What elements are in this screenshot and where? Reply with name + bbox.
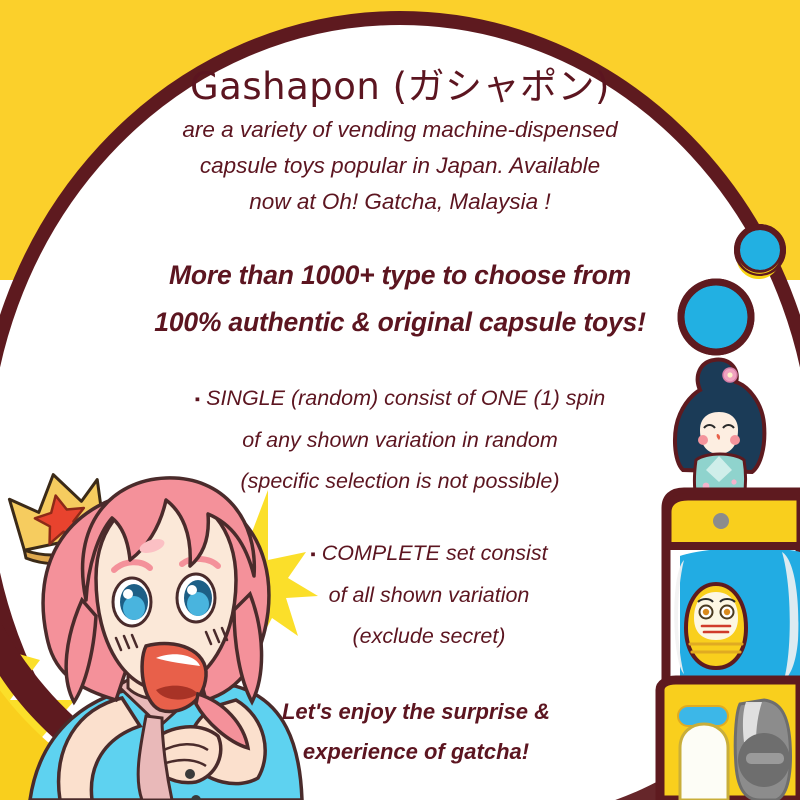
- single-option-line-1: ▪ SINGLE (random) consist of ONE (1) spi…: [0, 378, 800, 420]
- single-option-line-2: of any shown variation in random: [0, 420, 800, 461]
- complete-option-block: ▪ COMPLETE set consist of all shown vari…: [0, 533, 800, 657]
- complete-option-line-1: ▪ COMPLETE set consist: [58, 533, 800, 575]
- complete-option-line-3: (exclude secret): [58, 616, 800, 657]
- single-option-line-3: (specific selection is not possible): [0, 461, 800, 502]
- closing-line-2: experience of gatcha!: [32, 732, 800, 772]
- bullet-marker-complete: ▪: [310, 546, 315, 563]
- machine-top-screw: [713, 513, 729, 529]
- headline-block: More than 1000+ type to choose from 100%…: [0, 252, 800, 346]
- closing-line-1: Let's enjoy the surprise &: [32, 692, 800, 732]
- closing-block: Let's enjoy the surprise & experience of…: [0, 692, 800, 772]
- headline-line-1: More than 1000+ type to choose from: [0, 252, 800, 299]
- lede-line-1: are a variety of vending machine-dispens…: [0, 112, 800, 148]
- lede-paragraph: are a variety of vending machine-dispens…: [0, 112, 800, 220]
- page-title: Gashapon (ガシャポン): [0, 56, 800, 110]
- single-option-text-1: SINGLE (random) consist of ONE (1) spin: [206, 386, 605, 410]
- complete-option-line-2: of all shown variation: [58, 575, 800, 616]
- headline-line-2: 100% authentic & original capsule toys!: [0, 299, 800, 346]
- poster-canvas: Gashapon (ガシャポン) are a variety of vendin…: [0, 0, 800, 800]
- bullet-marker-single: ▪: [195, 391, 200, 408]
- complete-option-text-1: COMPLETE set consist: [322, 541, 548, 565]
- lede-line-3: now at Oh! Gatcha, Malaysia !: [0, 184, 800, 220]
- single-option-block: ▪ SINGLE (random) consist of ONE (1) spi…: [0, 378, 800, 502]
- lede-line-2: capsule toys popular in Japan. Available: [0, 148, 800, 184]
